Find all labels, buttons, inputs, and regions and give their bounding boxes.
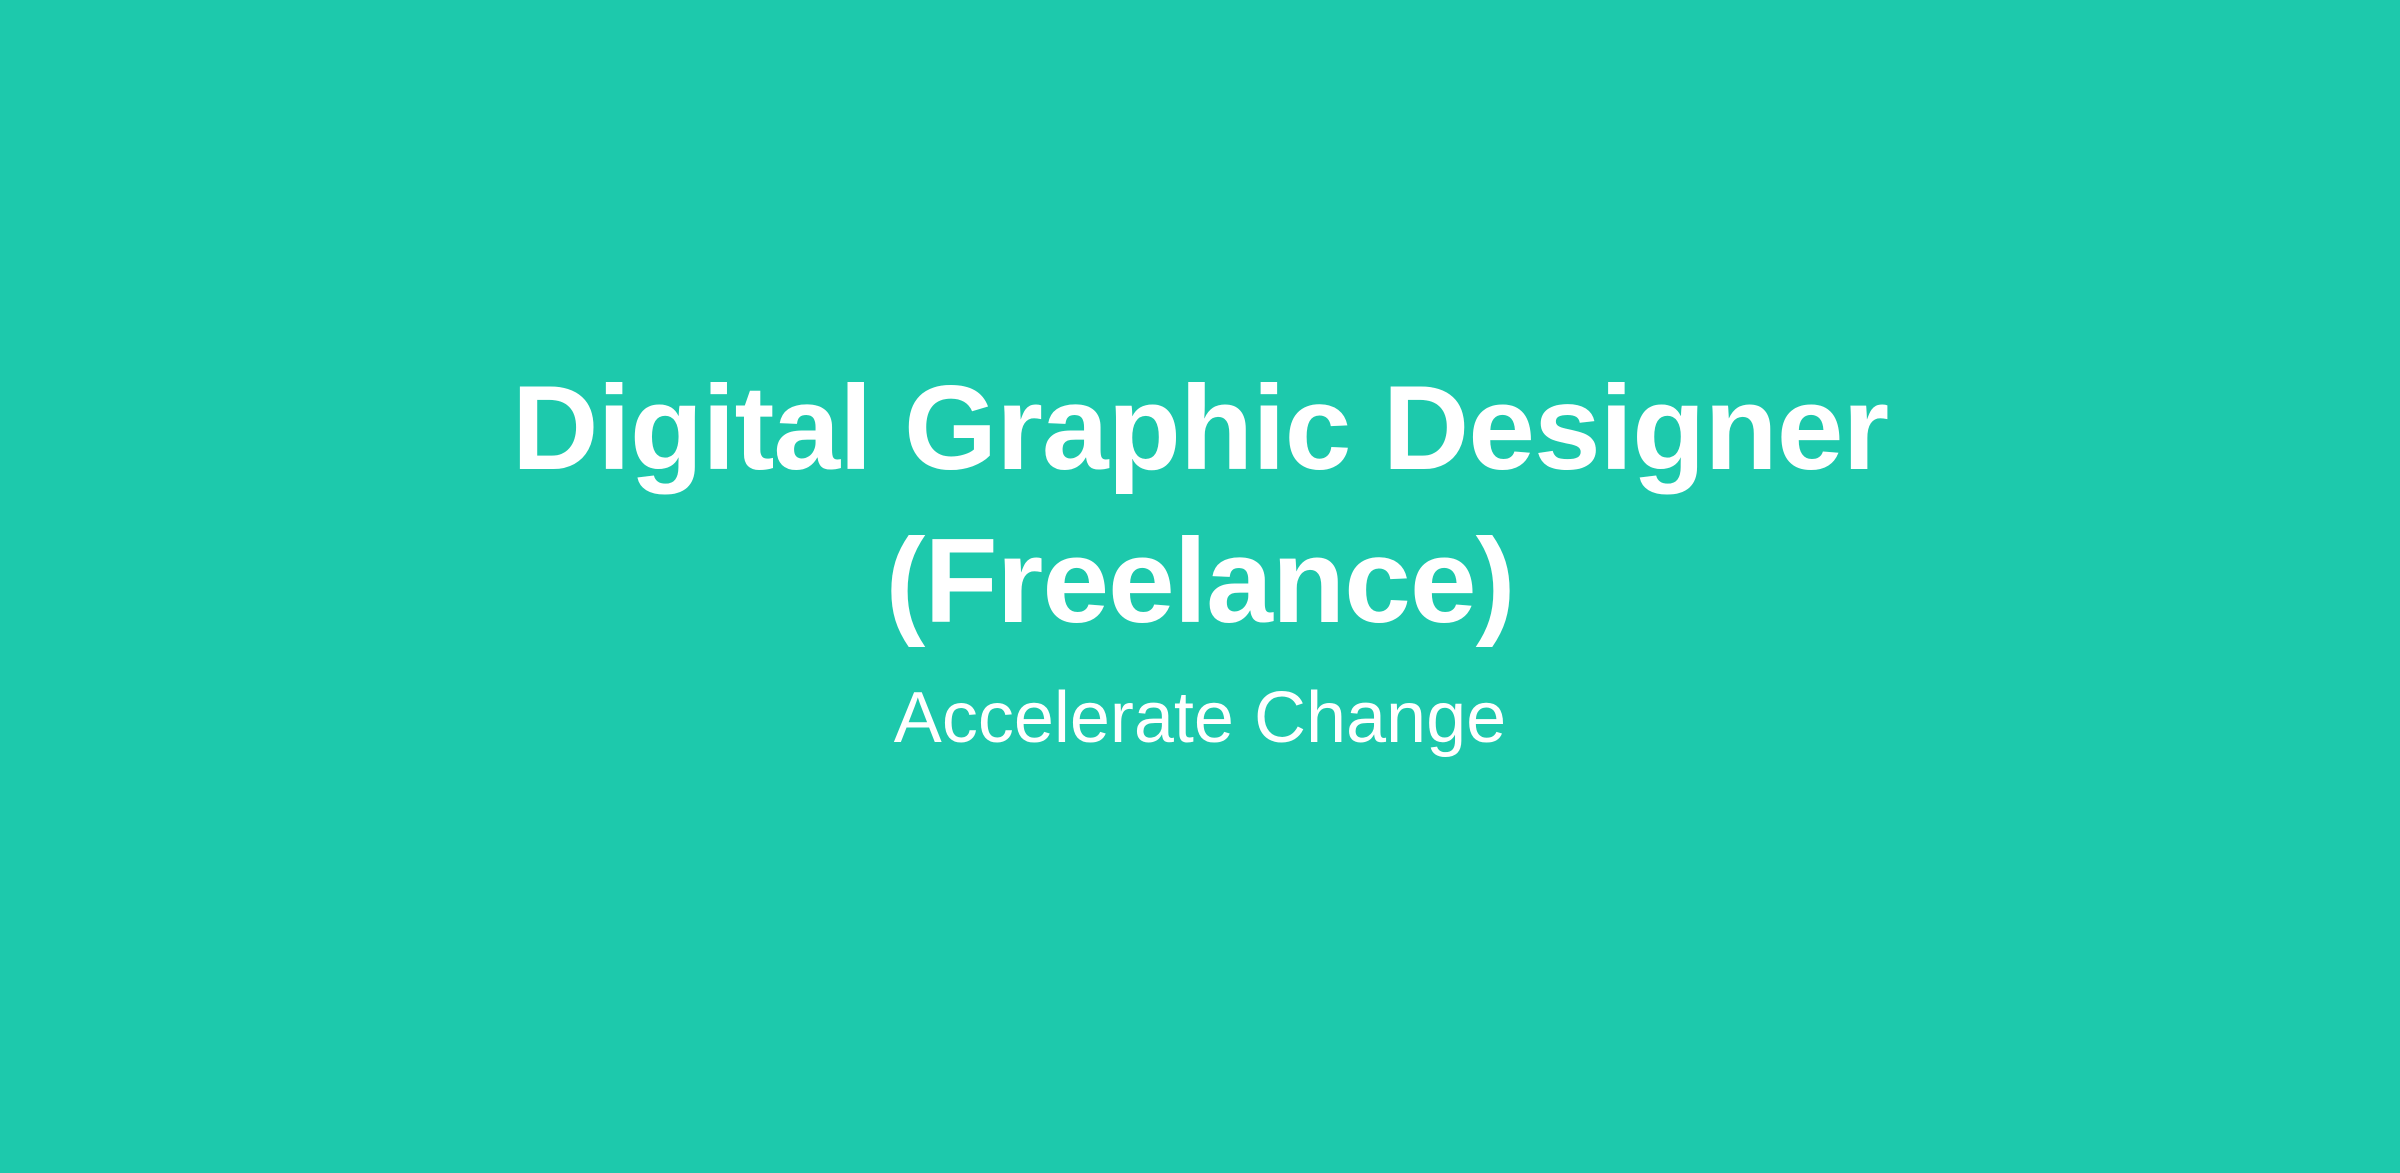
- page-title: Digital Graphic Designer (Freelance): [490, 352, 1910, 659]
- page-subtitle: Accelerate Change: [894, 675, 1506, 761]
- job-header-banner: Digital Graphic Designer (Freelance) Acc…: [0, 0, 2400, 1173]
- hero-text-block: Digital Graphic Designer (Freelance) Acc…: [490, 352, 1910, 762]
